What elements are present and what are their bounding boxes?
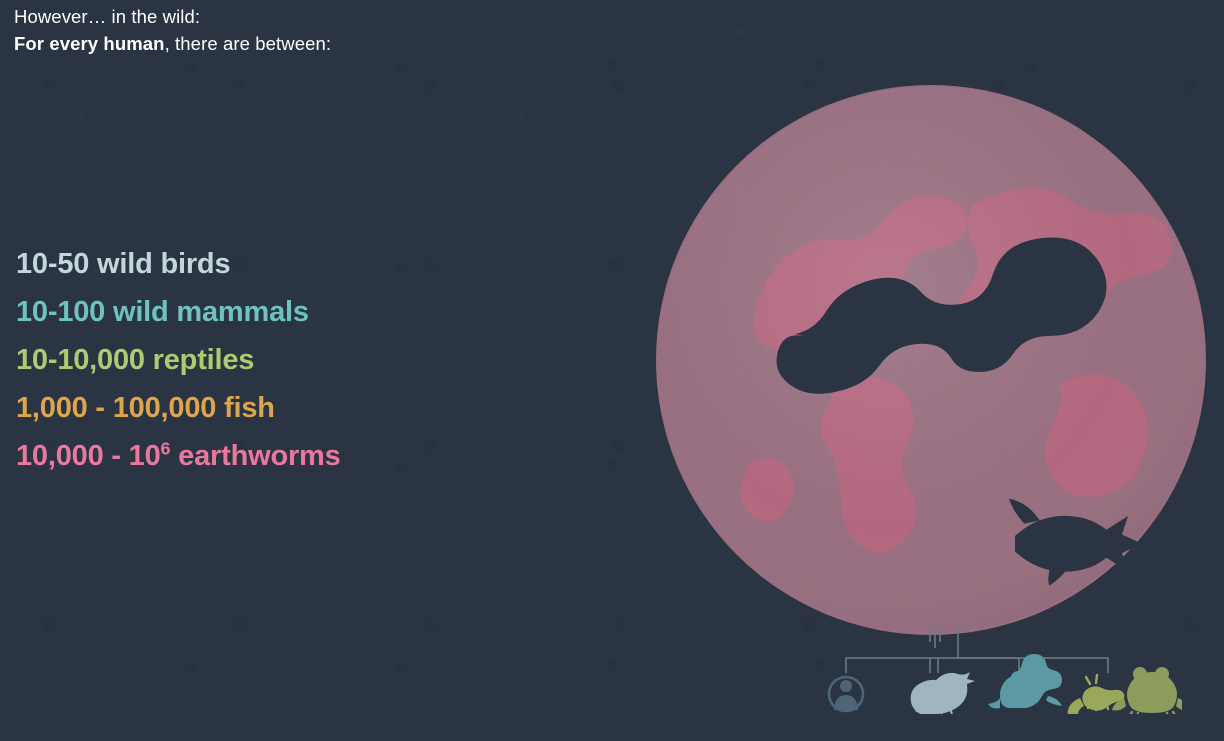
stat-text-earthworms-tail: earthworms <box>170 440 340 472</box>
legend-svg <box>812 618 1182 714</box>
headline-emphasis: For every human <box>14 33 165 54</box>
legend <box>812 618 1182 714</box>
stat-text-earthworms-head: 10,000 - 10 <box>16 440 161 472</box>
stat-text-earthworms-exponent: 6 <box>161 438 171 458</box>
headline-line-2: For every human, there are between: <box>14 31 614 57</box>
pie-chart-svg <box>655 84 1207 636</box>
stat-list: 10-50 wild birds 10-100 wild mammals 10-… <box>16 240 576 480</box>
stat-line-fish: 1,000 - 100,000 fish <box>16 384 576 432</box>
bird-icon <box>911 672 975 714</box>
stat-line-reptiles: 10-10,000 reptiles <box>16 336 576 384</box>
headline-line-2-rest: , there are between: <box>165 33 332 54</box>
stat-text-reptiles: 10-10,000 reptiles <box>16 344 254 376</box>
headline-block: However… in the wild: For every human, t… <box>14 4 614 57</box>
stat-text-wild-mammals: 10-100 wild mammals <box>16 296 309 328</box>
stat-line-wild-mammals: 10-100 wild mammals <box>16 288 576 336</box>
stat-line-wild-birds: 10-50 wild birds <box>16 240 576 288</box>
stat-text-fish: 1,000 - 100,000 fish <box>16 392 275 424</box>
headline-line-1: However… in the wild: <box>14 4 614 30</box>
frog-icon <box>1112 667 1182 714</box>
pie-chart <box>655 84 1207 636</box>
mouse-icon <box>988 654 1062 709</box>
stat-line-earthworms: 10,000 - 106 earthworms <box>16 432 576 480</box>
human-in-circle-icon <box>829 677 863 711</box>
stat-text-wild-birds: 10-50 wild birds <box>16 248 230 280</box>
legend-connectors <box>846 626 1108 673</box>
